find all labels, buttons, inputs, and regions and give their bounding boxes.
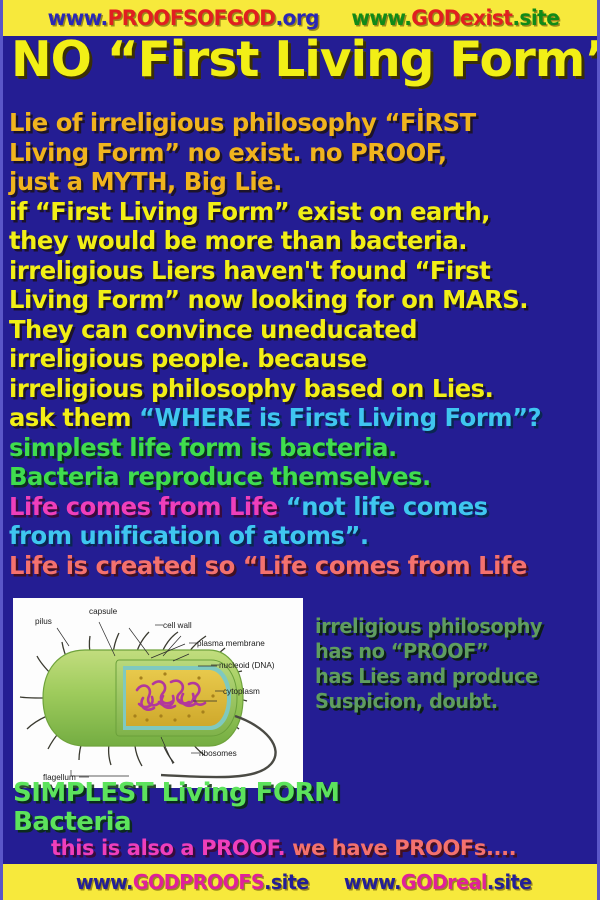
page-title: NO “First Living Form”	[11, 34, 595, 86]
url-prefix: www.	[351, 6, 411, 30]
main-text-block: Lie of irreligious philosophy “FİRST Liv…	[9, 108, 600, 580]
label-nucleoid: nucleoid (DNA)	[219, 661, 275, 670]
text-line: just a MYTH, Big Lie.	[9, 167, 585, 197]
url-tld: .site	[486, 870, 531, 894]
url-name: GODreal	[400, 870, 486, 894]
text-segment: just a MYTH, Big Lie.	[9, 167, 282, 196]
text-segment: simplest life form is bacteria.	[9, 433, 397, 462]
text-segment: ask them	[9, 403, 139, 432]
text-segment: irreligious philosophy	[315, 614, 542, 638]
bottom-url-banner: www.GODPROOFS.site www.GODreal.site	[3, 864, 600, 900]
text-line: has no “PROOF”	[315, 639, 594, 664]
text-line: Suspicion, doubt.	[315, 689, 594, 714]
text-segment: irreligious philosophy based on Lies.	[9, 374, 493, 403]
text-segment: has no “PROOF”	[315, 639, 488, 663]
caption-bacteria: Bacteria	[13, 808, 600, 837]
text-segment: irreligious Liers haven't found “First	[9, 256, 490, 285]
text-segment: Life comes from Life	[9, 492, 286, 521]
closing-part-two: we have PROOFs....	[285, 836, 516, 860]
label-cell-wall: cell wall	[163, 621, 192, 630]
bacterium-illustration: pilus capsule cell wall plasma membrane …	[13, 598, 303, 788]
text-segment: Lie of irreligious philosophy “FİRST	[9, 108, 476, 137]
poster-canvas: www.PROOFSOFGOD.org www.GODexist.site NO…	[0, 0, 600, 900]
text-line: Lie of irreligious philosophy “FİRST	[9, 108, 585, 138]
text-line: irreligious philosophy based on Lies.	[9, 374, 585, 404]
text-line: simplest life form is bacteria.	[9, 433, 585, 463]
text-segment: they would be more than bacteria.	[9, 226, 467, 255]
label-ribosomes: ribosomes	[199, 749, 237, 758]
text-segment: “WHERE is First Living Form”?	[139, 403, 541, 432]
text-segment: Living Form” now looking for on MARS.	[9, 285, 528, 314]
closing-statement: this is also a PROOF. we have PROOFs....	[51, 836, 516, 860]
url-name: PROOFSOFGOD	[108, 6, 276, 30]
url-godreal[interactable]: www.GODreal.site	[343, 870, 531, 894]
url-tld: .site	[264, 870, 309, 894]
text-line: Life is created so “Life comes from Life	[9, 551, 585, 581]
url-prefix: www.	[76, 870, 133, 894]
text-segment: if “First Living Form” exist on earth,	[9, 197, 490, 226]
text-line: they would be more than bacteria.	[9, 226, 585, 256]
text-line: They can convince uneducated	[9, 315, 585, 345]
text-line: from unification of atoms”.	[9, 521, 585, 551]
text-segment: “not life comes	[286, 492, 488, 521]
url-prefix: www.	[343, 870, 400, 894]
text-line: has Lies and produce	[315, 664, 594, 689]
url-godproofs[interactable]: www.GODPROOFS.site	[76, 870, 309, 894]
url-prefix: www.	[48, 6, 108, 30]
text-segment: from unification of atoms”.	[9, 521, 369, 550]
text-line: irreligious Liers haven't found “First	[9, 256, 585, 286]
text-line: ask them “WHERE is First Living Form”?	[9, 403, 585, 433]
label-plasma-membrane: plasma membrane	[197, 639, 265, 648]
text-line: Bacteria reproduce themselves.	[9, 462, 585, 492]
text-segment: has Lies and produce	[315, 664, 538, 688]
url-name: GODPROOFS	[133, 870, 264, 894]
bacterium-figure: pilus capsule cell wall plasma membrane …	[13, 598, 303, 788]
caption-simplest-living-form: SIMPLEST Living FORM	[13, 779, 600, 808]
text-line: if “First Living Form” exist on earth,	[9, 197, 585, 227]
text-line: Living Form” now looking for on MARS.	[9, 285, 585, 315]
text-segment: Bacteria reproduce themselves.	[9, 462, 431, 491]
url-tld: .site	[512, 6, 559, 30]
right-text-column: irreligious philosophy has no “PROOF” ha…	[315, 614, 600, 714]
text-line: Living Form” no exist. no PROOF,	[9, 138, 585, 168]
text-segment: Suspicion, doubt.	[315, 689, 498, 713]
text-segment: Living Form” no exist. no PROOF,	[9, 138, 447, 167]
text-line: Life comes from Life “not life comes	[9, 492, 585, 522]
label-capsule: capsule	[89, 607, 118, 616]
text-segment: irreligious people. because	[9, 344, 367, 373]
label-cytoplasm: cytoplasm	[223, 687, 260, 696]
text-line: irreligious philosophy	[315, 614, 594, 639]
url-proofsofgod[interactable]: www.PROOFSOFGOD.org	[48, 6, 319, 30]
text-segment: Life is created so “Life comes from Life	[9, 551, 527, 580]
label-pilus: pilus	[35, 617, 52, 626]
text-line: irreligious people. because	[9, 344, 585, 374]
url-tld: .org	[276, 6, 320, 30]
closing-part-one: this is also a PROOF.	[51, 836, 285, 860]
text-segment: They can convince uneducated	[9, 315, 417, 344]
caption-block: SIMPLEST Living FORM Bacteria	[13, 779, 600, 837]
url-godexist[interactable]: www.GODexist.site	[351, 6, 559, 30]
url-name: GODexist	[411, 6, 512, 30]
